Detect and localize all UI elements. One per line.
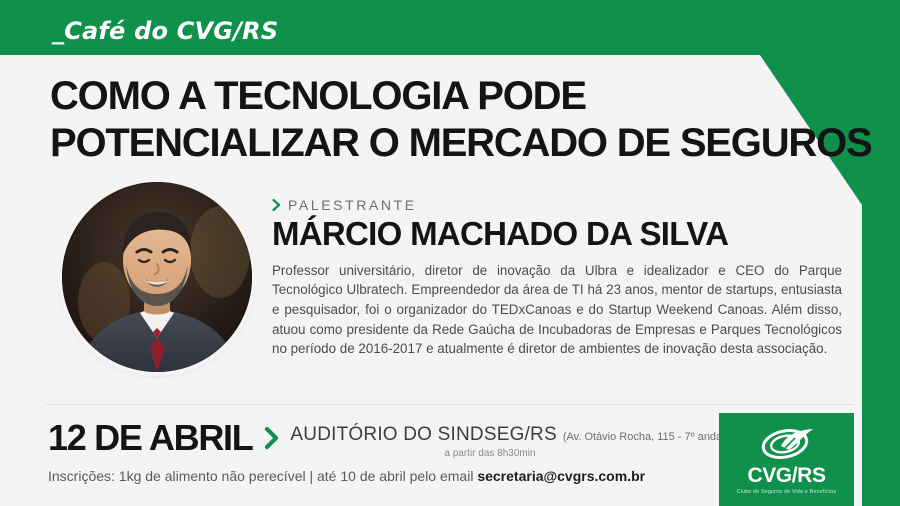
footer-divider [46, 404, 854, 405]
speaker-role-label: PALESTRANTE [288, 197, 417, 213]
venue-block: AUDITÓRIO DO SINDSEG/RS (Av. Otávio Roch… [290, 418, 729, 459]
event-start-time: a partir das 8h30min [290, 448, 729, 459]
speaker-name: MÁRCIO MACHADO DA SILVA [272, 217, 850, 252]
headline-line-1: COMO A TECNOLOGIA PODE [50, 76, 870, 117]
event-date: 12 DE ABRIL [48, 418, 252, 458]
venue-address: (Av. Otávio Rocha, 115 - 7º andar) [563, 431, 730, 443]
cvg-leaf-icon [755, 426, 819, 462]
headline-line-2: POTENCIALIZAR O MERCADO DE SEGUROS [50, 123, 870, 164]
venue-name: AUDITÓRIO DO SINDSEG/RS [290, 424, 556, 446]
registration-info: Inscrições: 1kg de alimento não perecíve… [48, 468, 645, 484]
registration-email[interactable]: secretaria@cvgrs.com.br [477, 468, 645, 484]
chevron-right-icon [272, 199, 281, 211]
event-details: 12 DE ABRIL AUDITÓRIO DO SINDSEG/RS (Av.… [48, 418, 730, 459]
event-poster: _Café do CVG/RS COMO A TECNOLOGIA PODE P… [0, 0, 900, 506]
logo-tagline: Clube de Seguros de Vida e Benefícios [737, 489, 837, 495]
header-title: _Café do CVG/RS [52, 17, 278, 45]
registration-text: Inscrições: 1kg de alimento não perecíve… [48, 468, 477, 484]
speaker-photo [62, 182, 252, 372]
cvg-logo: CVG/RS Clube de Seguros de Vida e Benefí… [719, 413, 854, 506]
speaker-role-row: PALESTRANTE [272, 196, 850, 214]
speaker-bio: Professor universitário, diretor de inov… [272, 261, 842, 360]
logo-name: CVG/RS [747, 465, 825, 486]
page-title: COMO A TECNOLOGIA PODE POTENCIALIZAR O M… [50, 76, 870, 164]
speaker-block: PALESTRANTE MÁRCIO MACHADO DA SILVA Prof… [272, 196, 850, 359]
chevron-right-icon [264, 427, 281, 449]
